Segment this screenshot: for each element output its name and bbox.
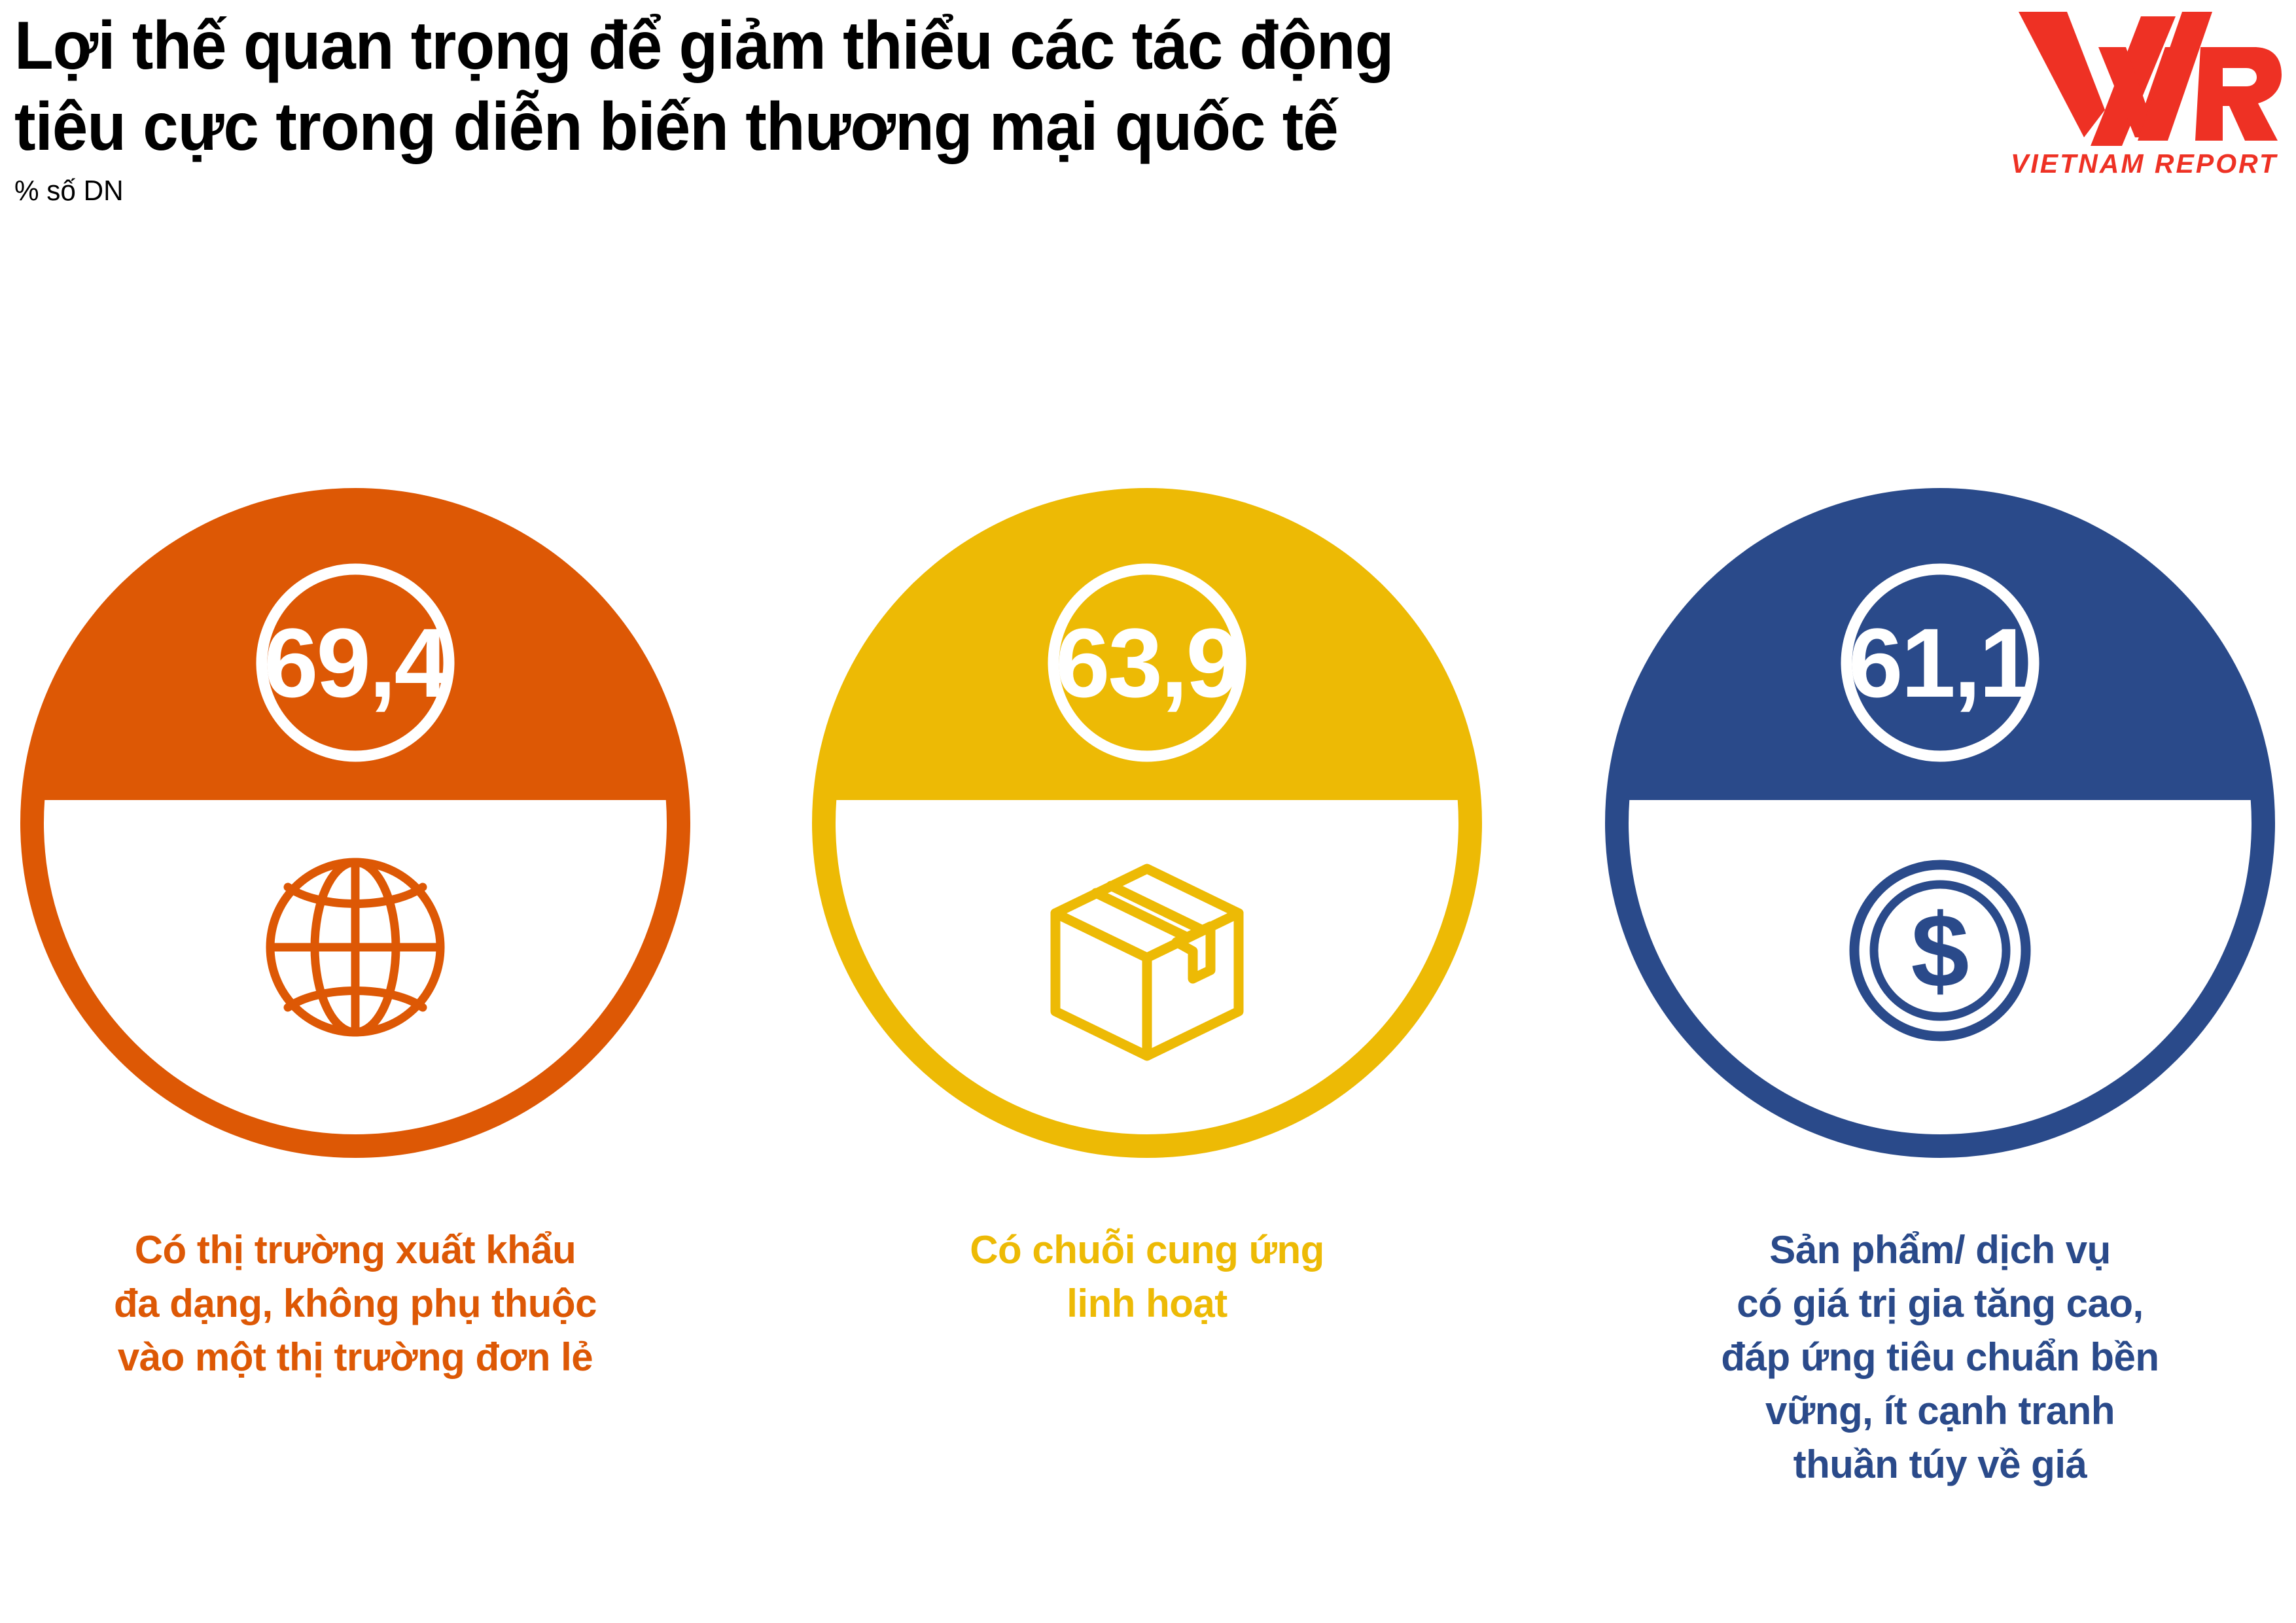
vietnam-report-logo: VIETNAM REPORT [2007,7,2282,183]
page-title-line-1: Lợi thế quan trọng để giảm thiểu các tác… [14,5,1614,86]
caption-line: đáp ứng tiêu chuẩn bền [1603,1331,2277,1384]
globe-icon [270,862,440,1032]
caption-line: Sản phẩm/ dịch vụ [1603,1223,2277,1277]
stat-value-2: 63,9 [1055,608,1239,718]
caption-line: thuần túy về giá [1603,1438,2277,1492]
caption-1: Có thị trường xuất khẩu đa dạng, không p… [18,1223,692,1384]
page-title-line-2: tiêu cực trong diễn biến thương mại quốc… [14,86,1614,167]
caption-line: vào một thị trường đơn lẻ [18,1331,692,1384]
title-block: Lợi thế quan trọng để giảm thiểu các tác… [14,5,1716,208]
subtitle-unit-label: % số DN [14,174,1648,208]
stat-circle-2: 63,9 [810,476,1484,1170]
caption-line: Có thị trường xuất khẩu [18,1223,692,1277]
caption-line: có giá trị gia tăng cao, [1603,1277,2277,1331]
stat-circles-row: 69,4 63,9 [0,476,2296,1176]
vnr-logo-mark [2019,12,2282,146]
caption-line: vững, ít cạnh tranh [1603,1384,2277,1438]
stat-value-3: 61,1 [1848,608,2032,718]
logo-wordmark: VIETNAM REPORT [2011,148,2278,179]
header: Lợi thế quan trọng để giảm thiểu các tác… [0,0,2296,216]
stat-circle-1: 69,4 [18,476,692,1170]
stat-circle-3: 61,1 $ [1603,476,2277,1170]
caption-2: Có chuỗi cung ứng linh hoạt [810,1223,1484,1331]
caption-line: đa dạng, không phụ thuộc [18,1277,692,1331]
stat-value-1: 69,4 [264,608,449,718]
caption-3: Sản phẩm/ dịch vụ có giá trị gia tăng ca… [1603,1223,2277,1492]
caption-line: linh hoạt [810,1277,1484,1331]
svg-text:$: $ [1911,892,1969,1009]
caption-line: Có chuỗi cung ứng [810,1223,1484,1277]
